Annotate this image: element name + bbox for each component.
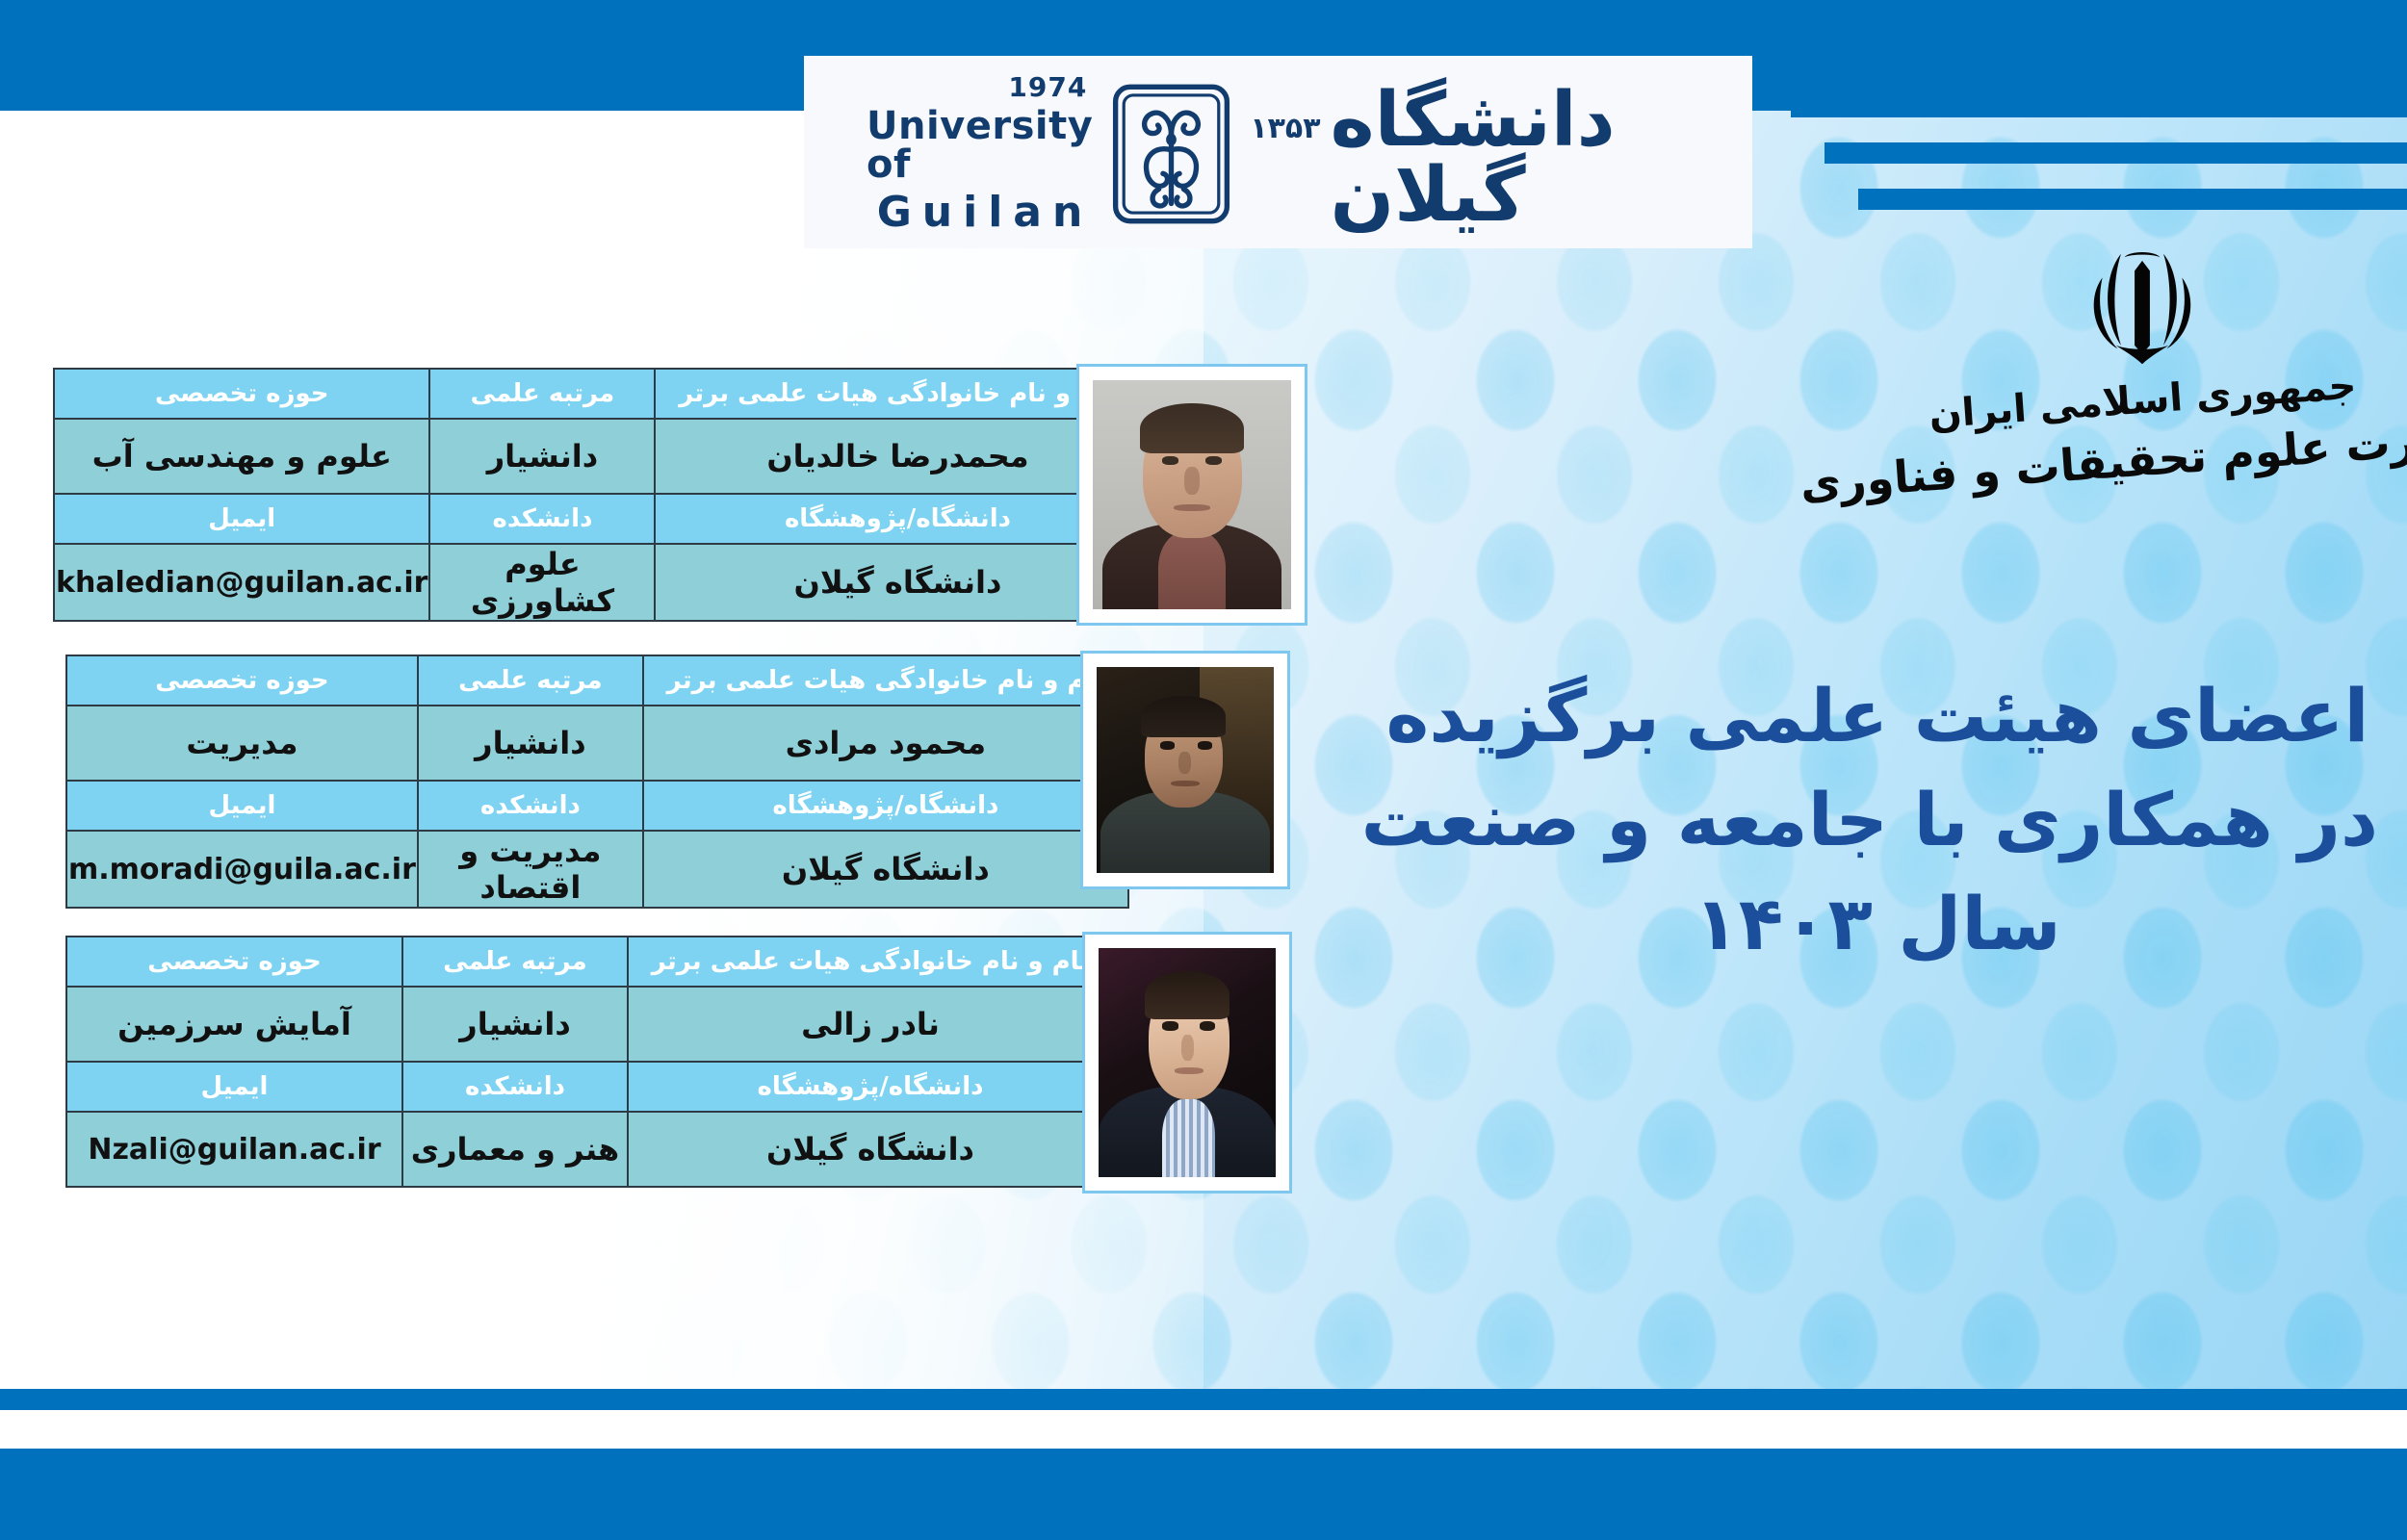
value-field: علوم و مهندسی آب	[54, 419, 429, 494]
value-institution: دانشگاه گیلان	[643, 831, 1128, 908]
header-faculty: دانشکده	[429, 494, 655, 544]
header-rank: مرتبه علمی	[402, 937, 628, 987]
decorative-bar-1	[1791, 96, 2407, 117]
decorative-bar-2	[1825, 142, 2407, 164]
header-rank: مرتبه علمی	[429, 369, 655, 419]
table-row: نام و نام خانوادگی هیات علمی برتر مرتبه …	[54, 369, 1140, 419]
value-rank: دانشیار	[418, 706, 643, 781]
logo-founding-year-en: 1974	[1008, 74, 1087, 101]
header-rank: مرتبه علمی	[418, 655, 643, 706]
header-name: نام و نام خانوادگی هیات علمی برتر	[655, 369, 1140, 419]
logo-persian-text: ۱۳۵۳ دانشگاه گیلان	[1250, 79, 1695, 229]
value-field: آمایش سرزمین	[66, 987, 402, 1062]
value-faculty: علوم کشاورزی	[429, 544, 655, 621]
logo-founding-year-fa: ۱۳۵۳	[1250, 112, 1320, 145]
logo-fa-name: دانشگاه گیلان	[1331, 83, 1695, 233]
value-institution: دانشگاه گیلان	[655, 544, 1140, 621]
table-row: نام و نام خانوادگی هیات علمی برتر مرتبه …	[66, 655, 1128, 706]
value-name: محمدرضا خالدیان	[655, 419, 1140, 494]
header-email: ایمیل	[54, 494, 429, 544]
value-email[interactable]: khaledian@guilan.ac.ir	[54, 544, 429, 621]
value-rank: دانشیار	[429, 419, 655, 494]
header-institution: دانشگاه/پژوهشگاه	[643, 781, 1128, 831]
table-row: نام و نام خانوادگی هیات علمی برتر مرتبه …	[66, 937, 1113, 987]
table-row: دانشگاه گیلان علوم کشاورزی khaledian@gui…	[54, 544, 1140, 621]
member-card-3: نام و نام خانوادگی هیات علمی برتر مرتبه …	[65, 936, 1114, 1188]
bottom-blue-bar	[0, 1449, 2407, 1540]
header-faculty: دانشکده	[402, 1062, 628, 1112]
logo-en-line2: Guilan	[877, 192, 1094, 234]
iran-national-emblem-icon	[2051, 245, 2234, 372]
header-institution: دانشگاه/پژوهشگاه	[628, 1062, 1113, 1112]
decorative-bar-3	[1858, 189, 2407, 210]
header-email: ایمیل	[66, 781, 418, 831]
header-faculty: دانشکده	[418, 781, 643, 831]
table-row: محمود مرادی دانشیار مدیریت	[66, 706, 1128, 781]
member-table-2: نام و نام خانوادگی هیات علمی برتر مرتبه …	[65, 654, 1129, 909]
table-row: دانشگاه گیلان هنر و معماری Nzali@guilan.…	[66, 1112, 1113, 1187]
header-field: حوزه تخصصی	[66, 655, 418, 706]
table-row: دانشگاه/پژوهشگاه دانشکده ایمیل	[66, 781, 1128, 831]
value-institution: دانشگاه گیلان	[628, 1112, 1113, 1187]
header-email: ایمیل	[66, 1062, 402, 1112]
member-photo-3	[1082, 932, 1292, 1193]
member-photo-1	[1076, 364, 1307, 626]
portrait-mohammadreza-khaledian	[1093, 380, 1291, 609]
table-row: دانشگاه/پژوهشگاه دانشکده ایمیل	[54, 494, 1140, 544]
table-row: محمدرضا خالدیان دانشیار علوم و مهندسی آب	[54, 419, 1140, 494]
member-table-1: نام و نام خانوادگی هیات علمی برتر مرتبه …	[53, 368, 1141, 622]
header-name: نام و نام خانوادگی هیات علمی برتر	[643, 655, 1128, 706]
table-row: دانشگاه/پژوهشگاه دانشکده ایمیل	[66, 1062, 1113, 1112]
table-row: دانشگاه گیلان مدیریت و اقتصاد m.moradi@g…	[66, 831, 1128, 908]
header-name: نام و نام خانوادگی هیات علمی برتر	[628, 937, 1113, 987]
member-photo-2	[1080, 651, 1290, 889]
title-line-3: سال ۱۴۰۳	[1377, 872, 2378, 976]
value-name: نادر زالی	[628, 987, 1113, 1062]
value-email[interactable]: m.moradi@guila.ac.ir	[66, 831, 418, 908]
value-email[interactable]: Nzali@guilan.ac.ir	[66, 1112, 402, 1187]
value-faculty: مدیریت و اقتصاد	[418, 831, 643, 908]
value-field: مدیریت	[66, 706, 418, 781]
poster-root: 1974 University of Guilan ۱۳۵۳ دانشگاه گ…	[0, 0, 2407, 1540]
ministry-block: جمهوری اسلامی ایران وزارت علوم تحقیقات و…	[1916, 245, 2368, 486]
value-rank: دانشیار	[402, 987, 628, 1062]
portrait-mahmoud-moradi	[1097, 667, 1274, 873]
header-field: حوزه تخصصی	[54, 369, 429, 419]
table-row: نادر زالی دانشیار آمایش سرزمین	[66, 987, 1113, 1062]
member-card-1: نام و نام خانوادگی هیات علمی برتر مرتبه …	[53, 368, 1141, 622]
bottom-white-gap	[0, 1410, 2407, 1449]
value-faculty: هنر و معماری	[402, 1112, 628, 1187]
title-line-2: در همکاری با جامعه و صنعت	[1377, 768, 2378, 872]
university-logo: 1974 University of Guilan ۱۳۵۳ دانشگاه گ…	[867, 77, 1695, 231]
header-field: حوزه تخصصی	[66, 937, 402, 987]
logo-english-text: 1974 University of Guilan	[867, 74, 1093, 234]
title-line-1: اعضای هیئت علمی برگزیده	[1377, 664, 2378, 768]
member-table-3: نام و نام خانوادگی هیات علمی برتر مرتبه …	[65, 936, 1114, 1188]
portrait-nader-zali	[1099, 948, 1276, 1177]
logo-en-line1: University of	[867, 107, 1093, 184]
guilan-university-emblem-icon	[1106, 82, 1236, 226]
bottom-thin-blue-bar	[0, 1389, 2407, 1410]
value-name: محمود مرادی	[643, 706, 1128, 781]
header-institution: دانشگاه/پژوهشگاه	[655, 494, 1140, 544]
page-title: اعضای هیئت علمی برگزیده در همکاری با جام…	[1377, 664, 2378, 976]
member-card-2: نام و نام خانوادگی هیات علمی برتر مرتبه …	[65, 654, 1129, 909]
